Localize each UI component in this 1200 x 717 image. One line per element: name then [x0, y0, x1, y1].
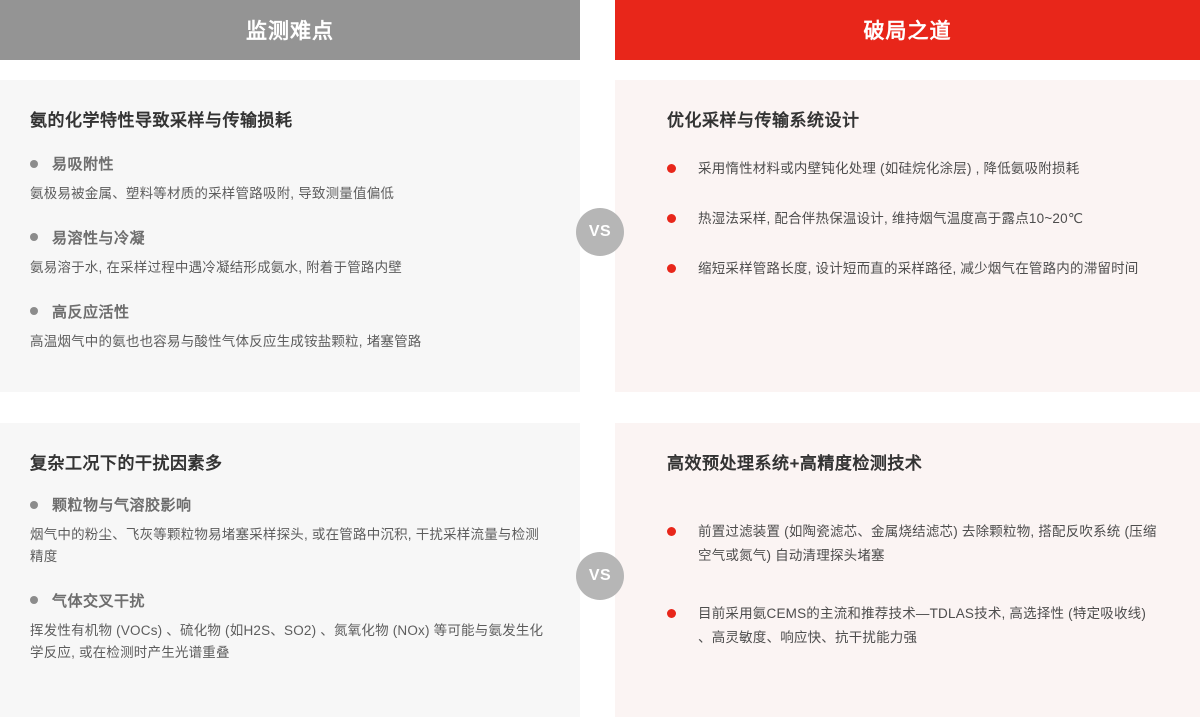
bullet-dot-icon	[667, 264, 676, 273]
bullet-dot-icon	[30, 596, 38, 604]
list-item: 易吸附性 氨极易被金属、塑料等材质的采样管路吸附, 导致测量值偏低	[30, 153, 550, 205]
problem-card-1-title: 氨的化学特性导致采样与传输损耗	[30, 106, 550, 131]
bullet-dot-icon	[667, 527, 676, 536]
solution-item-text: 采用惰性材料或内壁钝化处理 (如硅烷化涂层) , 降低氨吸附损耗	[698, 157, 1079, 181]
problem-item-desc: 高温烟气中的氨也也容易与酸性气体反应生成铵盐颗粒, 堵塞管路	[30, 331, 550, 353]
problem-card-2: 复杂工况下的干扰因素多 颗粒物与气溶胶影响 烟气中的粉尘、飞灰等颗粒物易堵塞采样…	[0, 423, 580, 717]
bullet-dot-icon	[30, 160, 38, 168]
problem-item-label: 气体交叉干扰	[52, 590, 145, 611]
problem-item-desc: 氨易溶于水, 在采样过程中遇冷凝结形成氨水, 附着于管路内壁	[30, 257, 550, 279]
list-item: 热湿法采样, 配合伴热保温设计, 维持烟气温度高于露点10~20℃	[667, 207, 1158, 231]
solution-card-2: 高效预处理系统+高精度检测技术 前置过滤装置 (如陶瓷滤芯、金属烧结滤芯) 去除…	[615, 423, 1200, 717]
problem-item-head: 易吸附性	[30, 153, 550, 174]
header-divider	[580, 0, 615, 60]
vs-badge-2: VS	[576, 552, 624, 600]
list-item: 颗粒物与气溶胶影响 烟气中的粉尘、飞灰等颗粒物易堵塞采样探头, 或在管路中沉积,…	[30, 494, 550, 568]
solution-card-1-title: 优化采样与传输系统设计	[667, 106, 1158, 131]
vs-badge-1: VS	[576, 208, 624, 256]
problem-item-desc: 氨极易被金属、塑料等材质的采样管路吸附, 导致测量值偏低	[30, 183, 550, 205]
solution-item-text: 目前采用氨CEMS的主流和推荐技术—TDLAS技术, 高选择性 (特定吸收线) …	[698, 602, 1158, 650]
problem-card-2-title: 复杂工况下的干扰因素多	[30, 449, 550, 474]
solution-item-text: 前置过滤装置 (如陶瓷滤芯、金属烧结滤芯) 去除颗粒物, 搭配反吹系统 (压缩空…	[698, 520, 1158, 568]
list-item: 前置过滤装置 (如陶瓷滤芯、金属烧结滤芯) 去除颗粒物, 搭配反吹系统 (压缩空…	[667, 520, 1158, 568]
problem-item-head: 气体交叉干扰	[30, 590, 550, 611]
bullet-dot-icon	[667, 214, 676, 223]
problem-item-desc: 挥发性有机物 (VOCs) 、硫化物 (如H2S、SO2) 、氮氧化物 (NOx…	[30, 620, 550, 664]
problem-item-label: 易溶性与冷凝	[52, 227, 145, 248]
list-item: 缩短采样管路长度, 设计短而直的采样路径, 减少烟气在管路内的滞留时间	[667, 257, 1158, 281]
bullet-dot-icon	[30, 307, 38, 315]
bullet-dot-icon	[30, 233, 38, 241]
list-item: 目前采用氨CEMS的主流和推荐技术—TDLAS技术, 高选择性 (特定吸收线) …	[667, 602, 1158, 650]
list-item: 高反应活性 高温烟气中的氨也也容易与酸性气体反应生成铵盐颗粒, 堵塞管路	[30, 301, 550, 353]
solution-card-1: 优化采样与传输系统设计 采用惰性材料或内壁钝化处理 (如硅烷化涂层) , 降低氨…	[615, 80, 1200, 392]
problem-card-1: 氨的化学特性导致采样与传输损耗 易吸附性 氨极易被金属、塑料等材质的采样管路吸附…	[0, 80, 580, 392]
problem-item-desc: 烟气中的粉尘、飞灰等颗粒物易堵塞采样探头, 或在管路中沉积, 干扰采样流量与检测…	[30, 524, 550, 568]
list-item: 易溶性与冷凝 氨易溶于水, 在采样过程中遇冷凝结形成氨水, 附着于管路内壁	[30, 227, 550, 279]
bullet-dot-icon	[667, 609, 676, 618]
problem-item-head: 颗粒物与气溶胶影响	[30, 494, 550, 515]
problem-item-label: 高反应活性	[52, 301, 130, 322]
problem-item-label: 颗粒物与气溶胶影响	[52, 494, 192, 515]
header-problems: 监测难点	[0, 0, 580, 60]
list-item: 气体交叉干扰 挥发性有机物 (VOCs) 、硫化物 (如H2S、SO2) 、氮氧…	[30, 590, 550, 664]
bullet-dot-icon	[30, 501, 38, 509]
header-row: 监测难点 破局之道	[0, 0, 1200, 60]
comparison-infographic: 监测难点 破局之道 氨的化学特性导致采样与传输损耗 易吸附性 氨极易被金属、塑料…	[0, 0, 1200, 717]
problem-item-head: 易溶性与冷凝	[30, 227, 550, 248]
solution-card-2-title: 高效预处理系统+高精度检测技术	[667, 449, 1158, 474]
bullet-dot-icon	[667, 164, 676, 173]
problem-item-head: 高反应活性	[30, 301, 550, 322]
list-item: 采用惰性材料或内壁钝化处理 (如硅烷化涂层) , 降低氨吸附损耗	[667, 157, 1158, 181]
problem-item-label: 易吸附性	[52, 153, 114, 174]
header-solutions: 破局之道	[615, 0, 1200, 60]
solution-item-text: 缩短采样管路长度, 设计短而直的采样路径, 减少烟气在管路内的滞留时间	[698, 257, 1139, 281]
solution-item-text: 热湿法采样, 配合伴热保温设计, 维持烟气温度高于露点10~20℃	[698, 207, 1083, 231]
